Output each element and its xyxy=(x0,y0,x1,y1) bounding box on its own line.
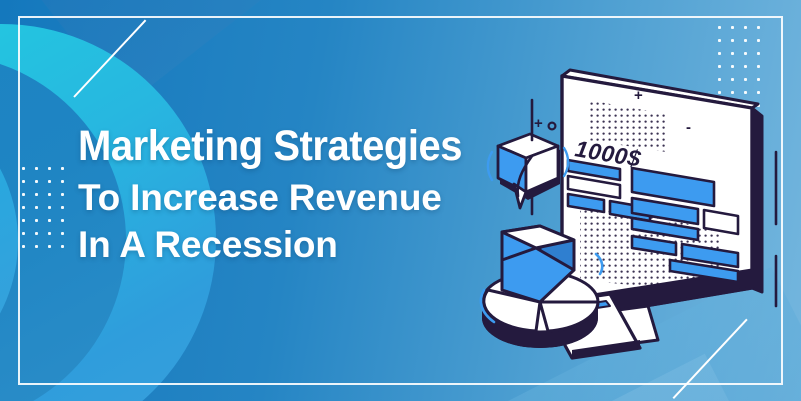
grid-dot xyxy=(22,180,25,183)
grid-dot xyxy=(22,167,25,170)
headline-line-2: To Increase Revenue xyxy=(78,174,508,221)
grid-dot xyxy=(35,232,38,235)
grid-dot xyxy=(61,206,64,209)
grid-dot xyxy=(757,26,760,29)
grid-dot xyxy=(61,180,64,183)
grid-dot xyxy=(35,167,38,170)
grid-dot xyxy=(48,167,51,170)
grid-dot xyxy=(48,232,51,235)
grid-dot xyxy=(22,206,25,209)
grid-dot xyxy=(48,219,51,222)
grid-dot xyxy=(48,193,51,196)
plus-badge-icon: + xyxy=(534,115,543,132)
grid-dot xyxy=(35,180,38,183)
grid-dot xyxy=(22,193,25,196)
grid-dot xyxy=(61,219,64,222)
grid-dot xyxy=(731,26,734,29)
page-title: Marketing Strategies To Increase Revenue… xyxy=(78,121,508,268)
plus-mark-icon: + xyxy=(634,87,643,104)
grid-dot xyxy=(744,39,747,42)
marketing-banner: Marketing Strategies To Increase Revenue… xyxy=(0,0,801,401)
grid-dot xyxy=(61,193,64,196)
grid-dot xyxy=(35,193,38,196)
headline-line-1: Marketing Strategies xyxy=(78,121,478,171)
dot-badge-icon xyxy=(549,123,556,130)
grid-dot xyxy=(48,245,51,248)
minus-mark-icon: - xyxy=(686,119,691,136)
grid-dot xyxy=(22,245,25,248)
grid-dot xyxy=(718,26,721,29)
grid-dot xyxy=(731,39,734,42)
grid-dot xyxy=(48,206,51,209)
grid-dot xyxy=(35,219,38,222)
grid-dot xyxy=(35,245,38,248)
grid-dot xyxy=(61,232,64,235)
illustration-monitor-dashboard: 1000$ xyxy=(470,48,800,378)
grid-dot xyxy=(35,206,38,209)
grid-dot xyxy=(744,26,747,29)
grid-dot xyxy=(48,180,51,183)
grid-dot xyxy=(718,39,721,42)
grid-dot xyxy=(61,167,64,170)
grid-dot xyxy=(61,245,64,248)
headline-line-3: In A Recession xyxy=(78,221,508,268)
grid-dot xyxy=(757,39,760,42)
grid-dot xyxy=(22,232,25,235)
grid-dot xyxy=(22,219,25,222)
